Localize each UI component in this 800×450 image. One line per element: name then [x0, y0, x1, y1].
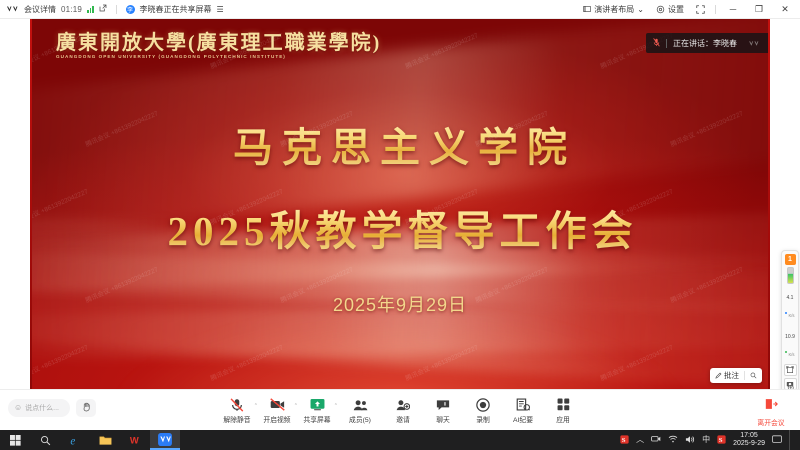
camera-off-icon — [270, 397, 285, 412]
share-screen-icon — [310, 397, 325, 412]
ai-minutes-icon — [516, 397, 530, 412]
upload-value: 4.1 — [787, 295, 794, 301]
file-explorer-icon[interactable] — [90, 430, 120, 450]
action-center-icon[interactable] — [772, 435, 782, 446]
participants-icon — [353, 397, 368, 412]
fullscreen-icon — [696, 5, 705, 14]
tool-record-circle[interactable]: 录制 — [463, 394, 503, 424]
maximize-button[interactable]: ❐ — [746, 0, 772, 19]
meeting-info-label[interactable]: 会议详情 — [24, 4, 56, 15]
svg-text:e: e — [70, 435, 75, 446]
title-bar-divider-2 — [715, 5, 716, 14]
tool-label: AI纪要 — [513, 414, 533, 424]
upload-unit: K/s — [788, 313, 794, 318]
windows-start-icon[interactable] — [0, 430, 30, 450]
tool-ai-minutes[interactable]: AI纪要 — [503, 394, 543, 424]
tool-participants[interactable]: 成员(5) — [337, 394, 383, 424]
layout-label: 演讲者布局 — [594, 4, 634, 15]
university-name-cn: 廣東開放大學(廣東理工職業學院) — [56, 33, 381, 53]
tencent-meeting-taskbar-icon[interactable] — [150, 430, 180, 450]
windows-taskbar: e W S — [0, 430, 800, 450]
leave-meeting-label: 离开会议 — [757, 417, 784, 427]
tool-chat-bubble[interactable]: 聊天 — [423, 394, 463, 424]
wps-office-icon[interactable]: W — [120, 430, 150, 450]
tool-label: 解除静音 — [223, 414, 250, 424]
wifi-icon[interactable] — [668, 435, 678, 445]
search-icon[interactable] — [30, 430, 60, 450]
presentation-slide: 廣東開放大學(廣東理工職業學院) GUANGDONG OPEN UNIVERSI… — [32, 19, 768, 389]
slide-title-main: 马克思主义学院 — [32, 115, 768, 173]
tool-label: 聊天 — [436, 414, 450, 424]
battery-icon — [787, 267, 794, 284]
clock-date: 2025-9-29 — [733, 440, 765, 447]
internet-explorer-icon[interactable]: e — [60, 430, 90, 450]
university-name-en: GUANGDONG OPEN UNIVERSITY (GUANGDONG POL… — [56, 55, 381, 60]
speaking-label: 正在讲话：李晓春 — [673, 38, 737, 49]
leave-meeting-icon — [765, 397, 778, 415]
meeting-control-bar: ☺ 说点什么... 解除静音⌃开启视频⌃共享屏幕⌃成员(5)邀请聊天录制AI纪要… — [0, 389, 800, 430]
leave-meeting-button[interactable]: 离开会议 — [750, 394, 792, 427]
magnifier-icon — [750, 372, 757, 379]
university-logo: 廣東開放大學(廣東理工職業學院) GUANGDONG OPEN UNIVERSI… — [56, 33, 381, 60]
side-status-dock: 1 4.1 K/s 10.9 K/s — [781, 250, 799, 393]
apps-grid-icon — [557, 397, 570, 412]
say-something-input[interactable]: ☺ 说点什么... — [8, 399, 70, 417]
annotation-zoom-button[interactable] — [745, 368, 762, 383]
settings-button[interactable]: 设置 — [650, 2, 690, 17]
svg-text:W: W — [130, 434, 139, 445]
sharing-notice: 李晓春正在共享屏幕 — [140, 4, 212, 15]
mic-muted-icon — [230, 397, 244, 412]
minimize-button[interactable]: － — [720, 0, 746, 19]
raise-hand-icon — [82, 402, 91, 414]
watermark-text: 腾讯会议 +8613922042227 — [403, 29, 479, 70]
volume-icon[interactable] — [685, 435, 695, 446]
more-options-icon[interactable]: ☰ — [217, 5, 224, 14]
svg-text:S: S — [622, 436, 626, 443]
chat-bubble-icon — [436, 397, 450, 412]
speaking-indicator: 正在讲话：李晓春 — [646, 33, 768, 53]
tool-apps-grid[interactable]: 应用 — [543, 394, 583, 424]
sharer-avatar: 李 — [126, 5, 135, 14]
download-unit: K/s — [788, 352, 794, 357]
speaking-separator — [666, 39, 667, 48]
system-tray: S ︿ — [620, 430, 800, 450]
annotate-label: 批注 — [724, 370, 739, 381]
tool-label: 共享屏幕 — [303, 414, 330, 424]
title-bar-left-group: 会议详情 01:19 李 李晓春正在共享屏幕 ☰ — [0, 4, 224, 15]
clock-time: 17:05 — [740, 432, 758, 439]
network-download-stat: 10.9 K/s — [785, 325, 795, 362]
layout-switch-button[interactable]: 演讲者布局 ⌄ — [577, 2, 650, 17]
annotation-bar: 批注 — [710, 368, 762, 383]
close-button[interactable]: ✕ — [772, 0, 798, 19]
popout-window-icon[interactable] — [99, 4, 107, 14]
ime-language-label[interactable]: 中 — [702, 436, 710, 444]
slide-title-sub: 2025秋教学督导工作会 — [32, 197, 768, 257]
tool-label: 录制 — [476, 414, 490, 424]
notification-badge-icon[interactable]: 1 — [785, 254, 796, 265]
tray-chevron-up-icon[interactable]: ︿ — [636, 436, 644, 444]
taskbar-clock[interactable]: 17:05 2025-9-29 — [733, 432, 765, 448]
svg-text:S: S — [719, 436, 723, 443]
download-value: 10.9 — [785, 334, 795, 340]
layout-icon — [583, 5, 591, 13]
title-bar-divider — [116, 5, 117, 14]
network-upload-stat: 4.1 K/s — [785, 286, 794, 323]
speaking-watermark-logo-icon — [747, 38, 760, 48]
tool-mic-muted[interactable]: 解除静音⌃ — [217, 394, 257, 424]
show-desktop-button[interactable] — [789, 430, 795, 450]
screenshot-icon[interactable] — [784, 364, 797, 376]
signal-bars-icon[interactable] — [87, 5, 94, 13]
tencent-meeting-logo-icon — [6, 5, 19, 14]
tray-app-icon[interactable]: S — [717, 435, 726, 446]
settings-label: 设置 — [668, 4, 684, 15]
gear-icon — [656, 5, 665, 14]
emoji-smiley-icon[interactable]: ☺ — [14, 404, 22, 412]
title-bar-right-group: 演讲者布局 ⌄ 设置 － ❐ ✕ — [577, 0, 800, 19]
stage-right-edge — [768, 19, 770, 389]
tool-camera-off[interactable]: 开启视频⌃ — [257, 394, 297, 424]
meeting-timer: 01:19 — [61, 5, 82, 14]
primary-tool-group: 解除静音⌃开启视频⌃共享屏幕⌃成员(5)邀请聊天录制AI纪要应用 — [217, 394, 583, 424]
tool-share-screen[interactable]: 共享屏幕⌃ — [297, 394, 337, 424]
tool-label: 开启视频 — [263, 414, 290, 424]
tool-invite-person[interactable]: 邀请 — [383, 394, 423, 424]
annotate-button[interactable]: 批注 — [710, 368, 744, 383]
slide-bottom-glow — [106, 308, 695, 389]
network-icon[interactable] — [651, 435, 661, 445]
shared-screen-stage[interactable]: 廣東開放大學(廣東理工職業學院) GUANGDONG OPEN UNIVERSI… — [32, 19, 768, 389]
say-something-placeholder: 说点什么... — [25, 403, 59, 413]
pencil-icon — [715, 372, 722, 379]
tool-label: 邀请 — [396, 414, 410, 424]
raise-hand-button[interactable] — [76, 399, 96, 417]
tencent-meeting-window: 会议详情 01:19 李 李晓春正在共享屏幕 ☰ 演讲者布局 — [0, 0, 800, 450]
invite-person-icon — [396, 397, 410, 412]
tool-label: 应用 — [556, 414, 570, 424]
record-circle-icon — [476, 397, 490, 412]
sogou-input-icon[interactable]: S — [620, 435, 629, 446]
window-title-bar: 会议详情 01:19 李 李晓春正在共享屏幕 ☰ 演讲者布局 — [0, 0, 800, 19]
chevron-down-icon: ⌄ — [637, 5, 644, 14]
fullscreen-button[interactable] — [690, 3, 711, 16]
mic-muted-red-icon — [653, 38, 660, 49]
tool-label: 成员(5) — [349, 414, 371, 424]
slide-date: 2025年9月29日 — [32, 291, 768, 317]
